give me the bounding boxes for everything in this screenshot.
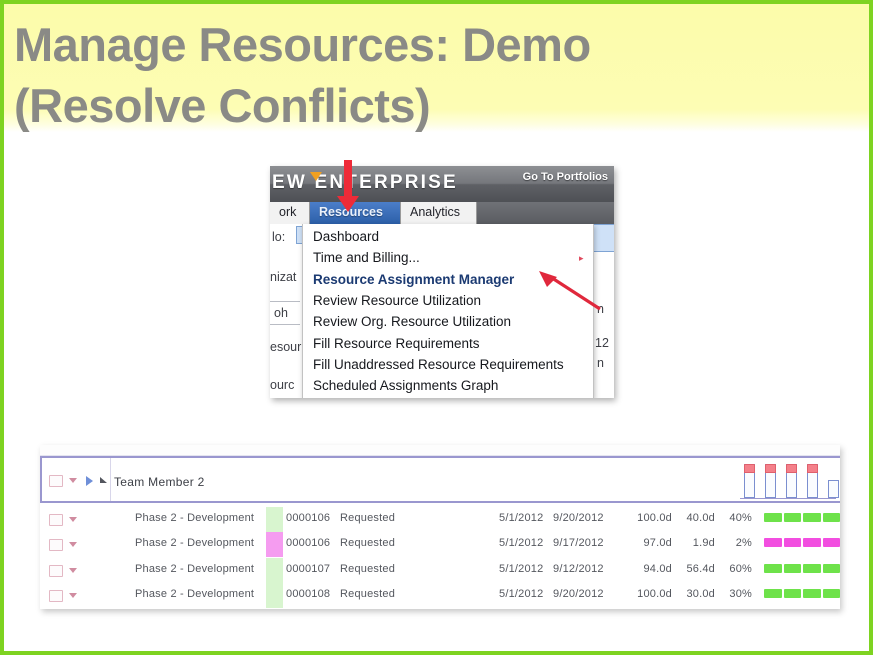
- gantt-segment: [764, 589, 782, 598]
- cell-work: 100.0d: [632, 512, 672, 524]
- cell-finish: 9/20/2012: [553, 512, 615, 524]
- cell-status: Requested: [340, 588, 410, 600]
- chevron-down-icon[interactable]: [69, 593, 77, 598]
- overallocation-cap-icon: [786, 464, 797, 473]
- gantt-bar: [764, 564, 840, 573]
- gantt-segment: [784, 538, 802, 547]
- gantt-segment: [764, 513, 782, 522]
- page-title: Manage Resources: Demo (Resolve Conflict…: [14, 14, 714, 136]
- menu-item-review-org-resource-utilization[interactable]: Review Org. Resource Utilization: [313, 314, 511, 329]
- menu-item-resource-assignment-manager[interactable]: Resource Assignment Manager: [313, 272, 514, 287]
- cell-task: Phase 2 - Development: [135, 537, 270, 549]
- cell-percent: 30%: [720, 588, 752, 600]
- cell-status: Requested: [340, 537, 410, 549]
- overallocation-cap-icon: [744, 464, 755, 473]
- cell-finish: 9/20/2012: [553, 588, 615, 600]
- menu-item-fill-unaddressed-resource-requirements[interactable]: Fill Unaddressed Resource Requirements: [313, 357, 564, 372]
- background-text-fragment: nizat: [270, 270, 296, 284]
- gantt-segment: [823, 564, 840, 573]
- row-checkbox[interactable]: [49, 590, 63, 602]
- histogram-bar: [828, 480, 839, 498]
- chevron-down-icon[interactable]: [69, 542, 77, 547]
- gantt-bar: [764, 513, 840, 522]
- gantt-segment: [764, 564, 782, 573]
- gantt-segment: [823, 513, 840, 522]
- cell-id: 0000108: [286, 588, 346, 600]
- app-header-bar: EW ENTERPRISE Go To Portfolios: [270, 166, 614, 202]
- gantt-segment: [803, 513, 821, 522]
- resource-assignment-grid-screenshot: Team Member 2 Phase 2 - Development00001…: [40, 445, 840, 609]
- cell-id: 0000107: [286, 563, 346, 575]
- arrow-down-annotation-icon: [344, 160, 352, 198]
- histogram-baseline: [740, 498, 836, 499]
- gantt-segment: [803, 589, 821, 598]
- cell-start: 5/1/2012: [499, 537, 559, 549]
- column-divider: [110, 458, 111, 501]
- collapse-arrow-icon[interactable]: [100, 477, 107, 483]
- cell-work: 94.0d: [632, 563, 672, 575]
- background-text-fragment: 12: [595, 336, 609, 350]
- chevron-down-icon[interactable]: [69, 568, 77, 573]
- cell-status: Requested: [340, 512, 410, 524]
- menu-item-scheduled-assignments-graph[interactable]: Scheduled Assignments Graph: [313, 378, 498, 393]
- gantt-segment: [803, 564, 821, 573]
- chevron-down-icon[interactable]: [69, 517, 77, 522]
- tab-work[interactable]: ork: [270, 202, 310, 224]
- menu-item-dashboard[interactable]: Dashboard: [313, 229, 379, 244]
- cell-percent: 2%: [720, 537, 752, 549]
- arrow-diagonal-annotation-icon: [537, 269, 603, 311]
- menu-item-fill-resource-requirements[interactable]: Fill Resource Requirements: [313, 336, 480, 351]
- menu-item-review-resource-utilization[interactable]: Review Resource Utilization: [313, 293, 481, 308]
- row-checkbox[interactable]: [49, 539, 63, 551]
- cell-start: 5/1/2012: [499, 588, 559, 600]
- overallocation-cap-icon: [807, 464, 818, 473]
- group-row-label: Team Member 2: [114, 475, 205, 489]
- gantt-bar: [764, 538, 840, 547]
- background-text-fragment: lo:: [272, 230, 285, 244]
- cell-actual: 40.0d: [677, 512, 715, 524]
- cell-work: 100.0d: [632, 588, 672, 600]
- gantt-segment: [784, 513, 802, 522]
- cell-id: 0000106: [286, 537, 346, 549]
- gantt-segment: [764, 538, 782, 547]
- cell-percent: 60%: [720, 563, 752, 575]
- background-divider: [270, 324, 300, 325]
- gantt-bar: [764, 589, 840, 598]
- histogram-bar: [765, 464, 776, 498]
- background-text-fragment: esour: [270, 340, 301, 354]
- histogram-bar: [786, 464, 797, 498]
- gantt-segment: [823, 538, 840, 547]
- table-row[interactable]: Phase 2 - Development0000107Requested5/1…: [40, 558, 840, 583]
- table-row[interactable]: Phase 2 - Development0000106Requested5/1…: [40, 507, 840, 532]
- triangle-badge-icon: [310, 172, 322, 181]
- tab-analytics[interactable]: Analytics: [401, 202, 477, 224]
- histogram-bar: [807, 464, 818, 498]
- go-to-portfolios-link[interactable]: Go To Portfolios: [523, 171, 608, 183]
- chevron-down-icon[interactable]: [69, 478, 77, 483]
- row-checkbox[interactable]: [49, 475, 63, 487]
- group-row-team-member[interactable]: Team Member 2: [40, 456, 840, 503]
- table-row[interactable]: Phase 2 - Development0000108Requested5/1…: [40, 583, 840, 608]
- cell-start: 5/1/2012: [499, 563, 559, 575]
- grid-header-strip: [40, 445, 840, 456]
- cell-id: 0000106: [286, 512, 346, 524]
- cell-actual: 30.0d: [677, 588, 715, 600]
- background-text-fragment: ourc: [270, 378, 294, 392]
- cell-status: Requested: [340, 563, 410, 575]
- histogram-bar: [744, 464, 755, 498]
- cell-finish: 9/12/2012: [553, 563, 615, 575]
- cell-percent: 40%: [720, 512, 752, 524]
- background-text-fragment: n: [597, 356, 604, 370]
- group-row-edge: [40, 458, 42, 501]
- gantt-segment: [823, 589, 840, 598]
- background-text-fragment: oh: [274, 306, 288, 320]
- expand-arrow-icon[interactable]: [86, 476, 93, 486]
- row-checkbox[interactable]: [49, 565, 63, 577]
- cell-task: Phase 2 - Development: [135, 512, 270, 524]
- gantt-segment: [784, 589, 802, 598]
- submenu-arrow-icon: ▸: [579, 253, 584, 264]
- row-checkbox[interactable]: [49, 514, 63, 526]
- background-divider: [270, 301, 300, 302]
- gantt-segment: [803, 538, 821, 547]
- cell-task: Phase 2 - Development: [135, 563, 270, 575]
- menu-item-time-and-billing[interactable]: Time and Billing...: [313, 250, 420, 265]
- slide-frame: Manage Resources: Demo (Resolve Conflict…: [0, 0, 873, 655]
- cell-actual: 56.4d: [677, 563, 715, 575]
- main-tabstrip: ork Resources Analytics: [270, 202, 614, 224]
- overallocation-cap-icon: [765, 464, 776, 473]
- cell-work: 97.0d: [632, 537, 672, 549]
- cell-finish: 9/17/2012: [553, 537, 615, 549]
- gantt-segment: [784, 564, 802, 573]
- cell-actual: 1.9d: [677, 537, 715, 549]
- cell-start: 5/1/2012: [499, 512, 559, 524]
- app-brand-label: EW ENTERPRISE: [272, 172, 458, 194]
- cell-task: Phase 2 - Development: [135, 588, 270, 600]
- table-row[interactable]: Phase 2 - Development0000106Requested5/1…: [40, 532, 840, 557]
